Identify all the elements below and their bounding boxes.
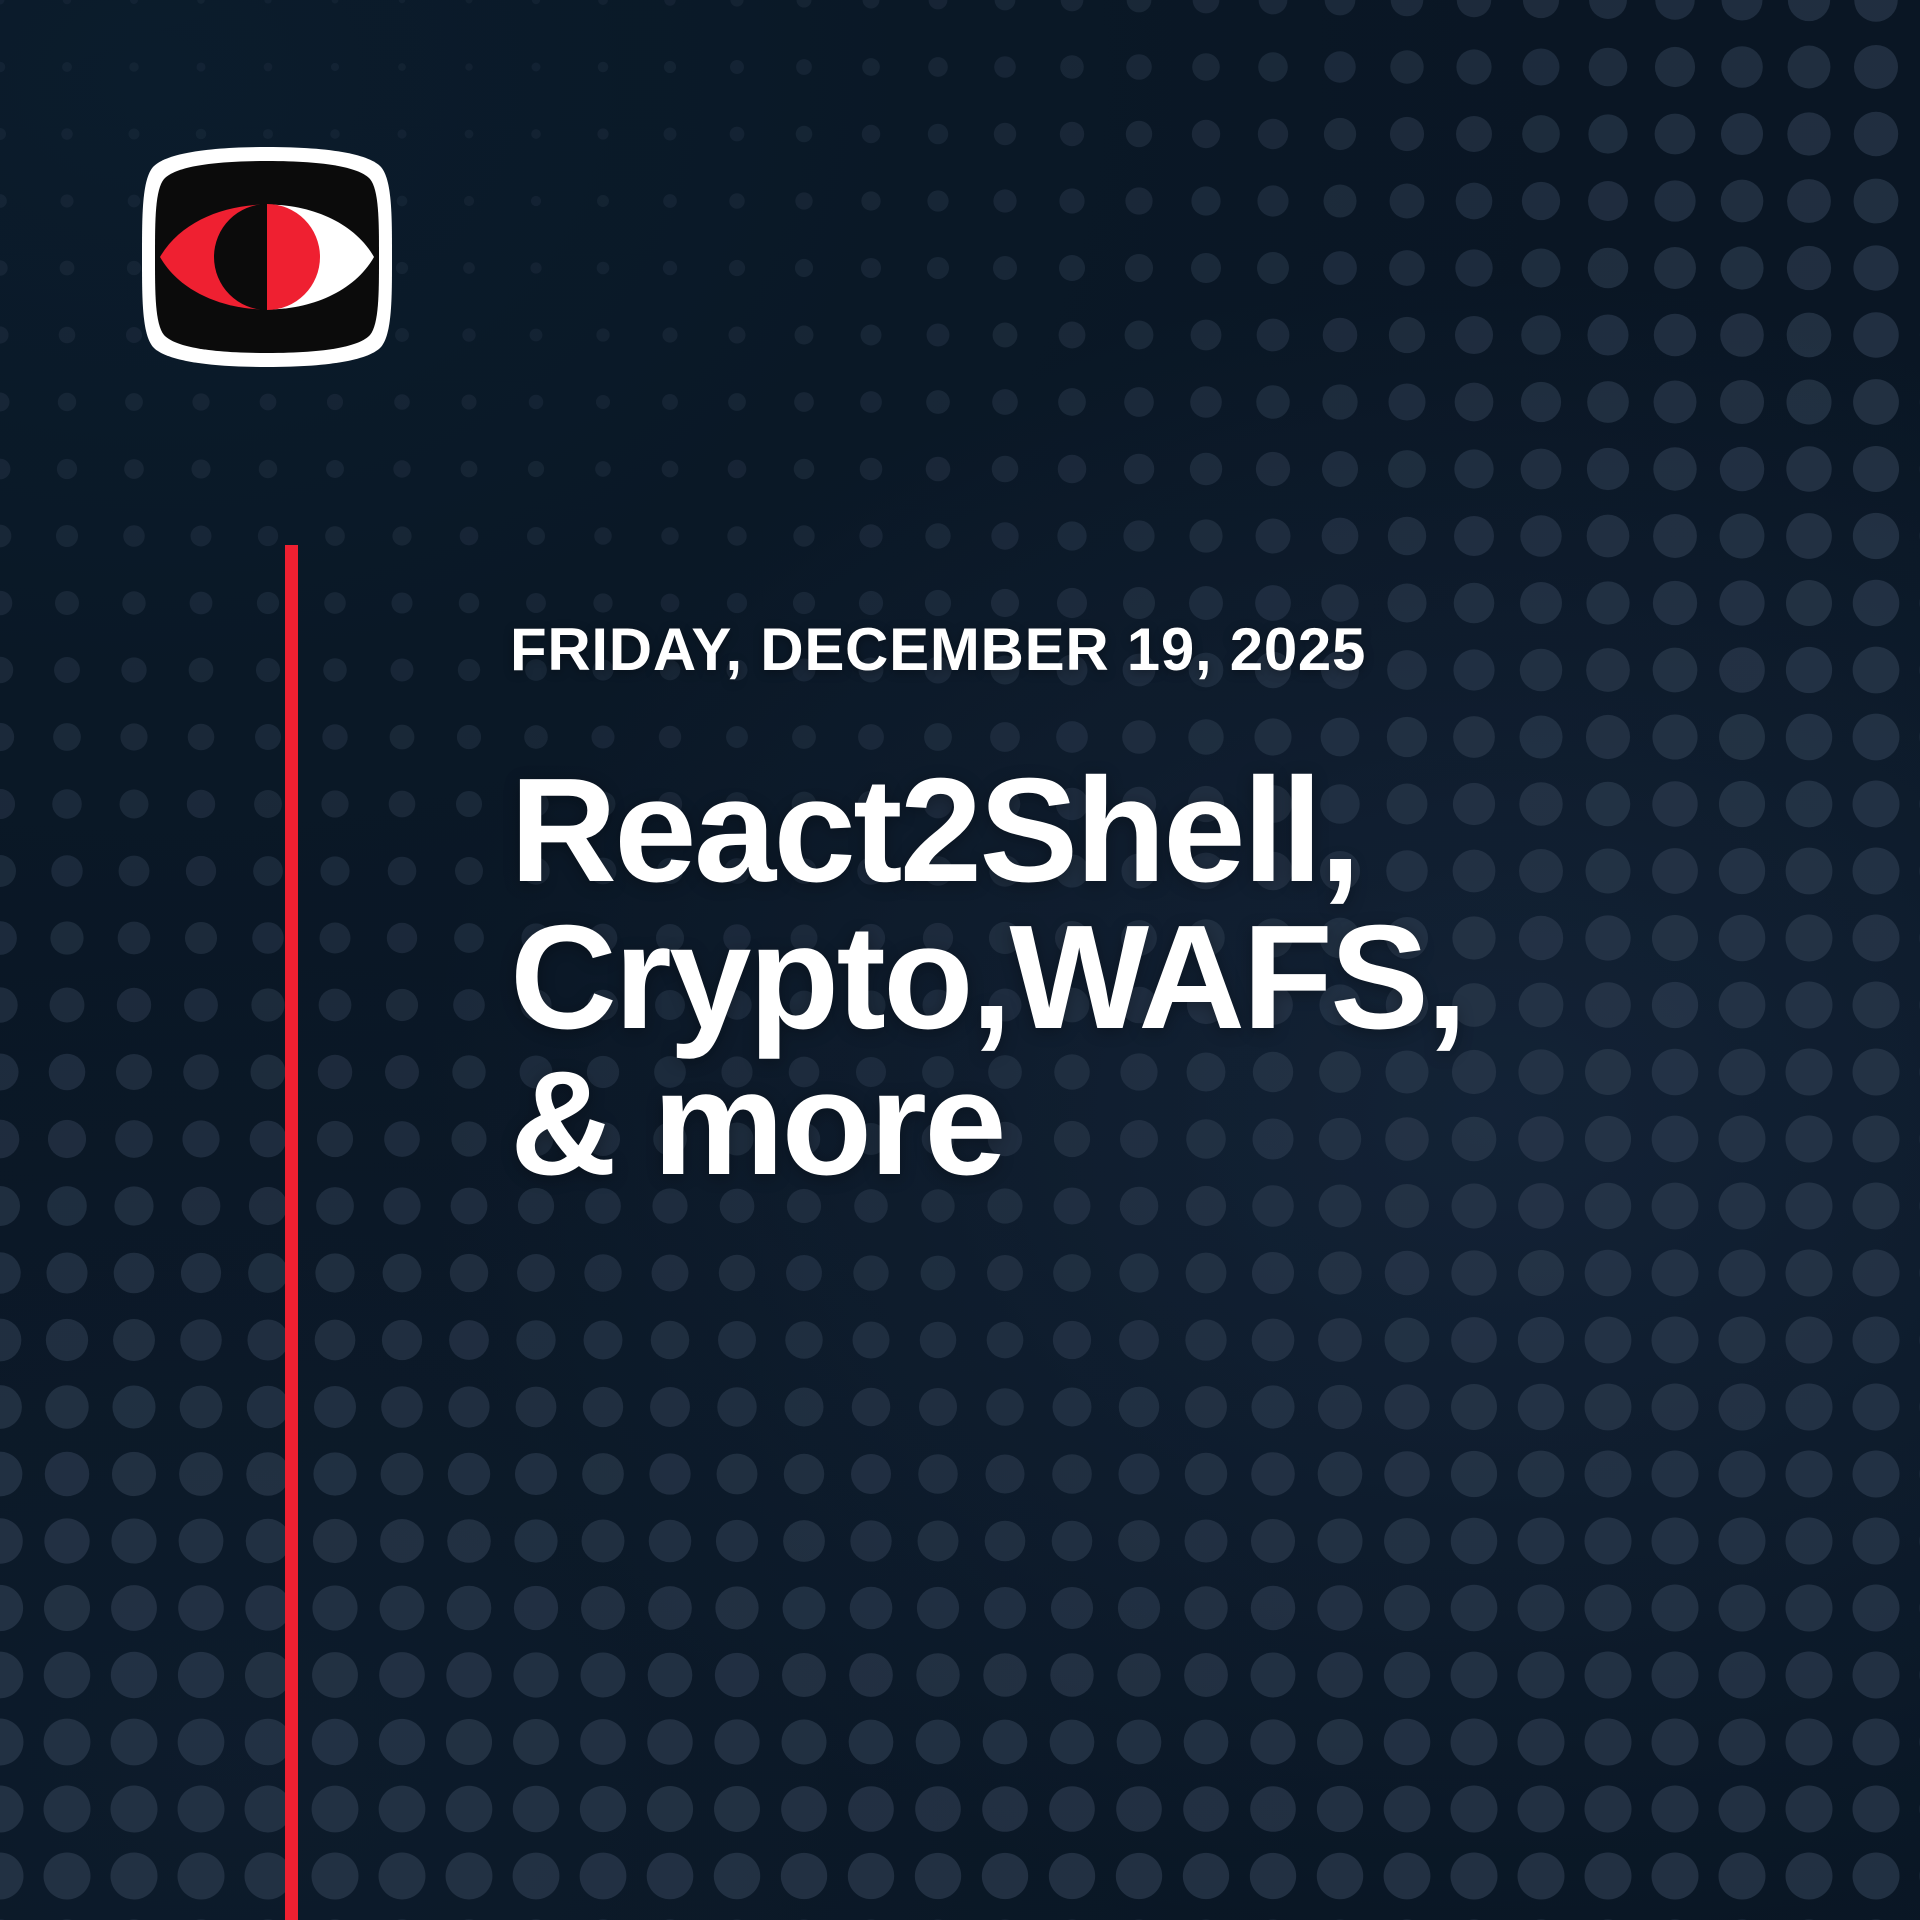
accent-rule bbox=[285, 545, 298, 1920]
card-text-block: FRIDAY, DECEMBER 19, 2025 React2Shell, C… bbox=[510, 620, 1840, 1198]
page-title: React2Shell, Crypto,WAFS, & more bbox=[510, 758, 1840, 1198]
headline-line-2: Crypto,WAFS, bbox=[510, 905, 1840, 1052]
eye-logo-icon bbox=[138, 143, 396, 371]
date-eyebrow: FRIDAY, DECEMBER 19, 2025 bbox=[510, 620, 1840, 680]
social-card: FRIDAY, DECEMBER 19, 2025 React2Shell, C… bbox=[0, 0, 1920, 1920]
headline-line-3: & more bbox=[510, 1051, 1840, 1198]
headline-line-1: React2Shell, bbox=[510, 758, 1840, 905]
